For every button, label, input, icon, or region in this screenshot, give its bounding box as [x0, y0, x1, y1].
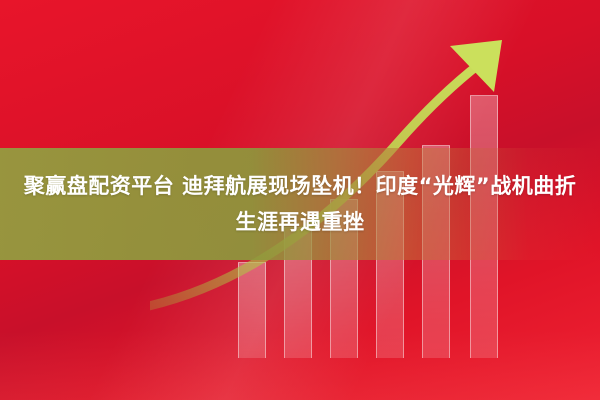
headline-band: 聚赢盘配资平台 迪拜航展现场坠机！印度“光辉”战机曲折生涯再遇重挫	[0, 148, 600, 260]
page-title: 聚赢盘配资平台 迪拜航展现场坠机！印度“光辉”战机曲折生涯再遇重挫	[14, 168, 586, 240]
chart-bar	[238, 262, 266, 358]
news-banner: 聚赢盘配资平台 迪拜航展现场坠机！印度“光辉”战机曲折生涯再遇重挫	[0, 0, 600, 400]
